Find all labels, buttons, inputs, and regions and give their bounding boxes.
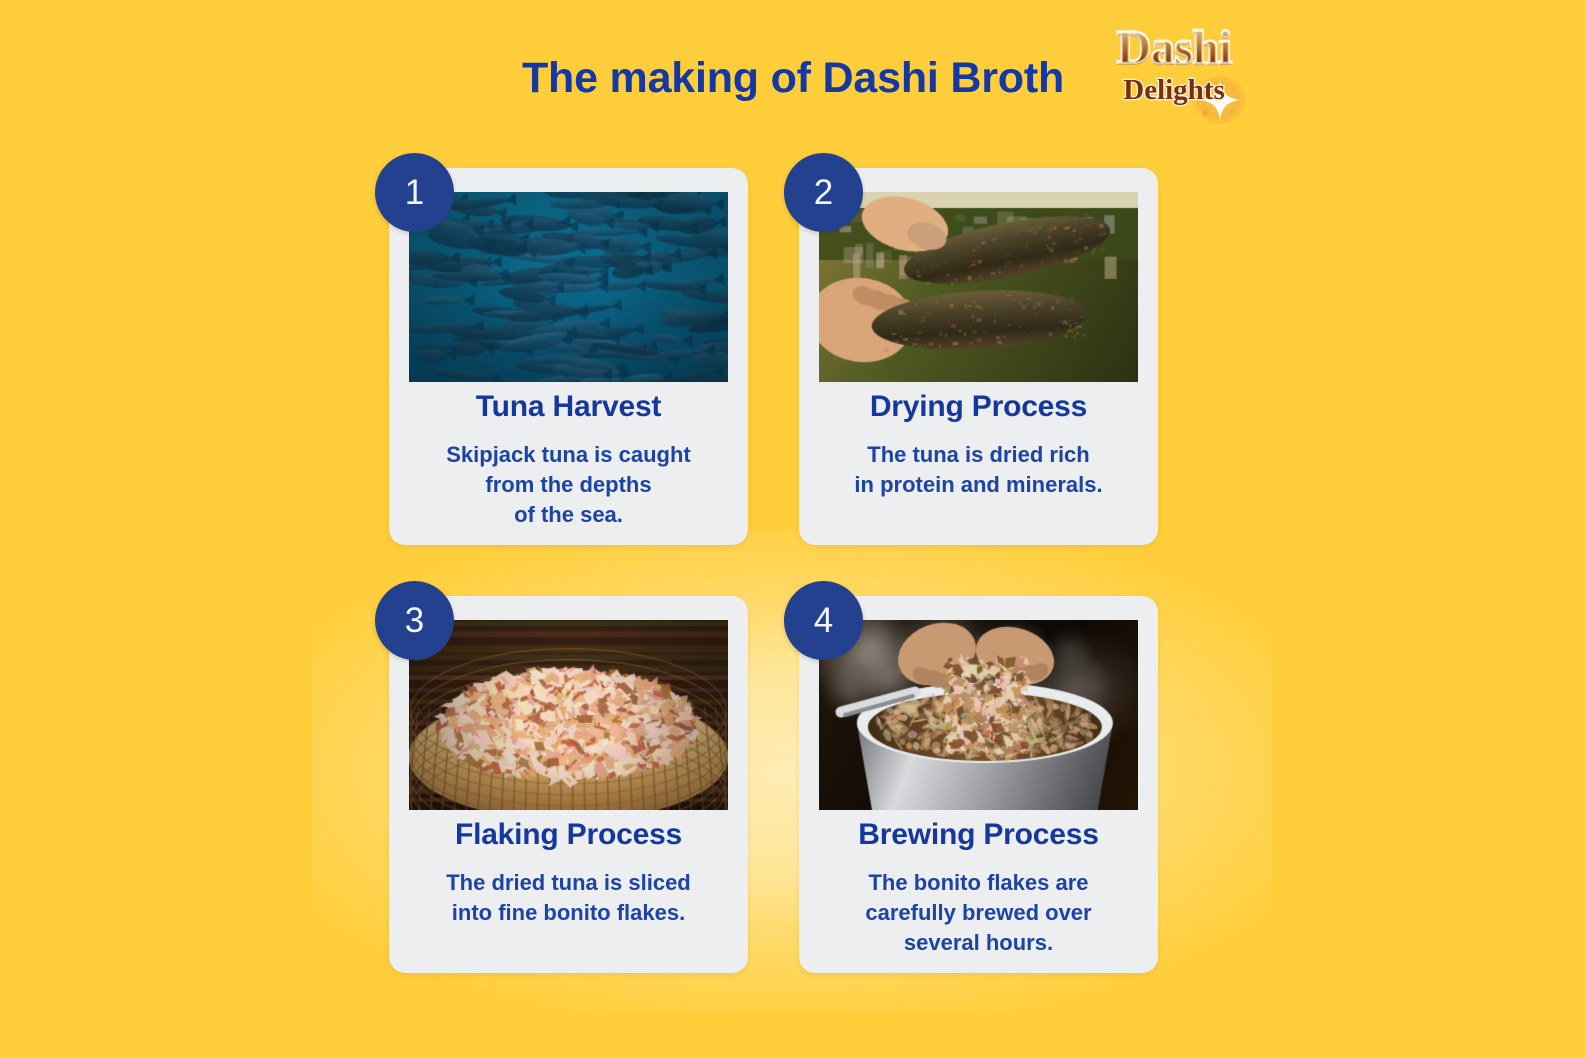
brand-primary-text: Dashi: [1098, 22, 1250, 74]
step-photo-brewing-process: [819, 620, 1138, 810]
step-number-badge-2: 2: [784, 153, 863, 232]
step-number-badge-4: 4: [784, 581, 863, 660]
step-card-1[interactable]: Tuna Harvest Skipjack tuna is caught fro…: [389, 168, 748, 545]
step-card-2[interactable]: Drying Process The tuna is dried rich in…: [799, 168, 1158, 545]
step-photo-drying-process: [819, 192, 1138, 382]
step-body-3: The dried tuna is sliced into fine bonit…: [389, 868, 748, 928]
step-heading-3: Flaking Process: [389, 818, 748, 852]
step-heading-4: Brewing Process: [799, 818, 1158, 852]
step-body-1: Skipjack tuna is caught from the depths …: [389, 440, 748, 530]
step-number-badge-1: 1: [375, 153, 454, 232]
brand-secondary-text: Delights: [1098, 74, 1250, 106]
step-photo-flaking-process: [409, 620, 728, 810]
page-title: The making of Dashi Broth: [0, 54, 1586, 103]
step-heading-1: Tuna Harvest: [389, 390, 748, 424]
step-number-badge-3: 3: [375, 581, 454, 660]
page-header: The making of Dashi Broth Dashi Delights: [0, 0, 1586, 150]
step-card-3[interactable]: Flaking Process The dried tuna is sliced…: [389, 596, 748, 973]
step-body-2: The tuna is dried rich in protein and mi…: [799, 440, 1158, 500]
step-body-4: The bonito flakes are carefully brewed o…: [799, 868, 1158, 958]
step-photo-tuna-harvest: [409, 192, 728, 382]
step-card-4[interactable]: Brewing Process The bonito flakes are ca…: [799, 596, 1158, 973]
brand-logo: Dashi Delights: [1098, 22, 1250, 120]
step-heading-2: Drying Process: [799, 390, 1158, 424]
